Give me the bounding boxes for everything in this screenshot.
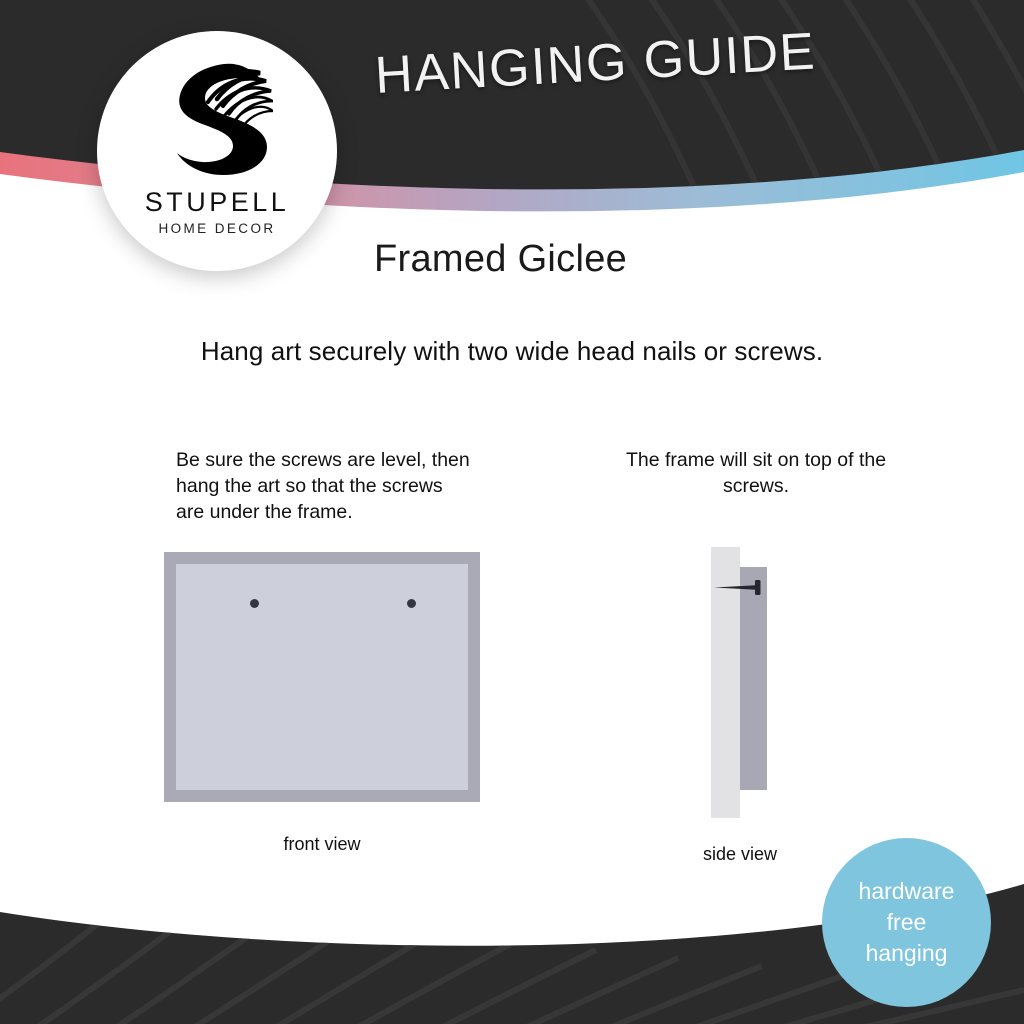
front-view-frame: [164, 552, 480, 802]
side-view-frame: [740, 567, 767, 790]
front-view-caption: Be sure the screws are level, then hang …: [176, 447, 476, 525]
screw-dot-right: [407, 599, 416, 608]
logo-subtext: HOME DECOR: [158, 221, 275, 236]
page-title: HANGING GUIDE: [373, 21, 817, 106]
side-view-caption: The frame will sit on top of the screws.: [596, 447, 916, 499]
front-view-frame-inner: [176, 564, 468, 790]
front-view-label: front view: [164, 834, 480, 855]
screw-dot-left: [250, 599, 259, 608]
main-instruction-text: Hang art securely with two wide head nai…: [0, 336, 1024, 367]
logo-wordmark: STUPELL: [145, 187, 290, 218]
hanging-guide-page: STUPELL HOME DECOR HANGING GUIDE Framed …: [0, 0, 1024, 1024]
side-view-label: side view: [636, 844, 844, 865]
stupell-logo-badge: STUPELL HOME DECOR: [97, 31, 337, 271]
hardware-free-hanging-badge: hardware free hanging: [822, 838, 991, 1007]
stupell-swoosh-mark: [161, 59, 273, 181]
badge-line-2: free: [887, 907, 927, 938]
badge-line-3: hanging: [866, 938, 948, 969]
badge-line-1: hardware: [859, 876, 955, 907]
nail-pointing-left-icon: [712, 576, 772, 598]
product-type-label: Framed Giclee: [374, 238, 627, 281]
